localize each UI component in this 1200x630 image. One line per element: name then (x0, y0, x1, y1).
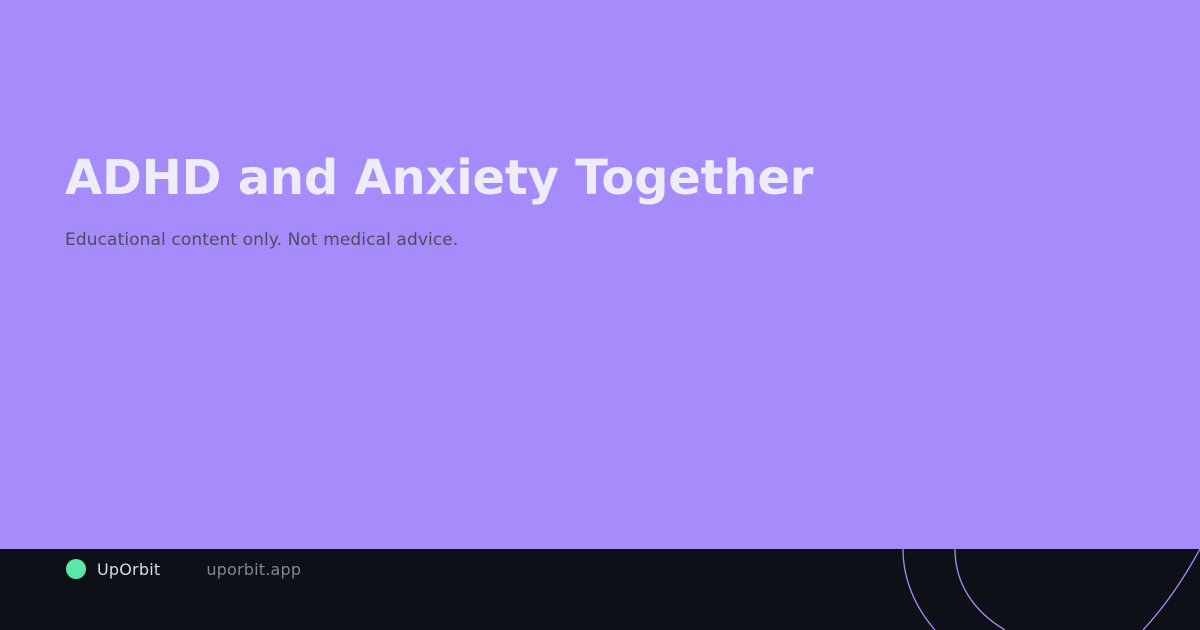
brand-name-label: UpOrbit (97, 560, 160, 579)
social-card: ADHD and Anxiety Together Educational co… (0, 0, 1200, 630)
page-title: ADHD and Anxiety Together (65, 152, 1065, 206)
hero-text-block: ADHD and Anxiety Together Educational co… (65, 152, 1065, 252)
brand-dot-icon (66, 559, 86, 579)
brand-lockup[interactable]: UpOrbit uporbit.app (66, 557, 301, 581)
footer-brand-bar: UpOrbit uporbit.app (0, 549, 1200, 630)
disclaimer-text: Educational content only. Not medical ad… (65, 228, 1065, 253)
brand-url-link[interactable]: uporbit.app (206, 560, 301, 579)
hero-section: ADHD and Anxiety Together Educational co… (0, 0, 1200, 549)
footer-section: UpOrbit uporbit.app (0, 549, 1200, 630)
